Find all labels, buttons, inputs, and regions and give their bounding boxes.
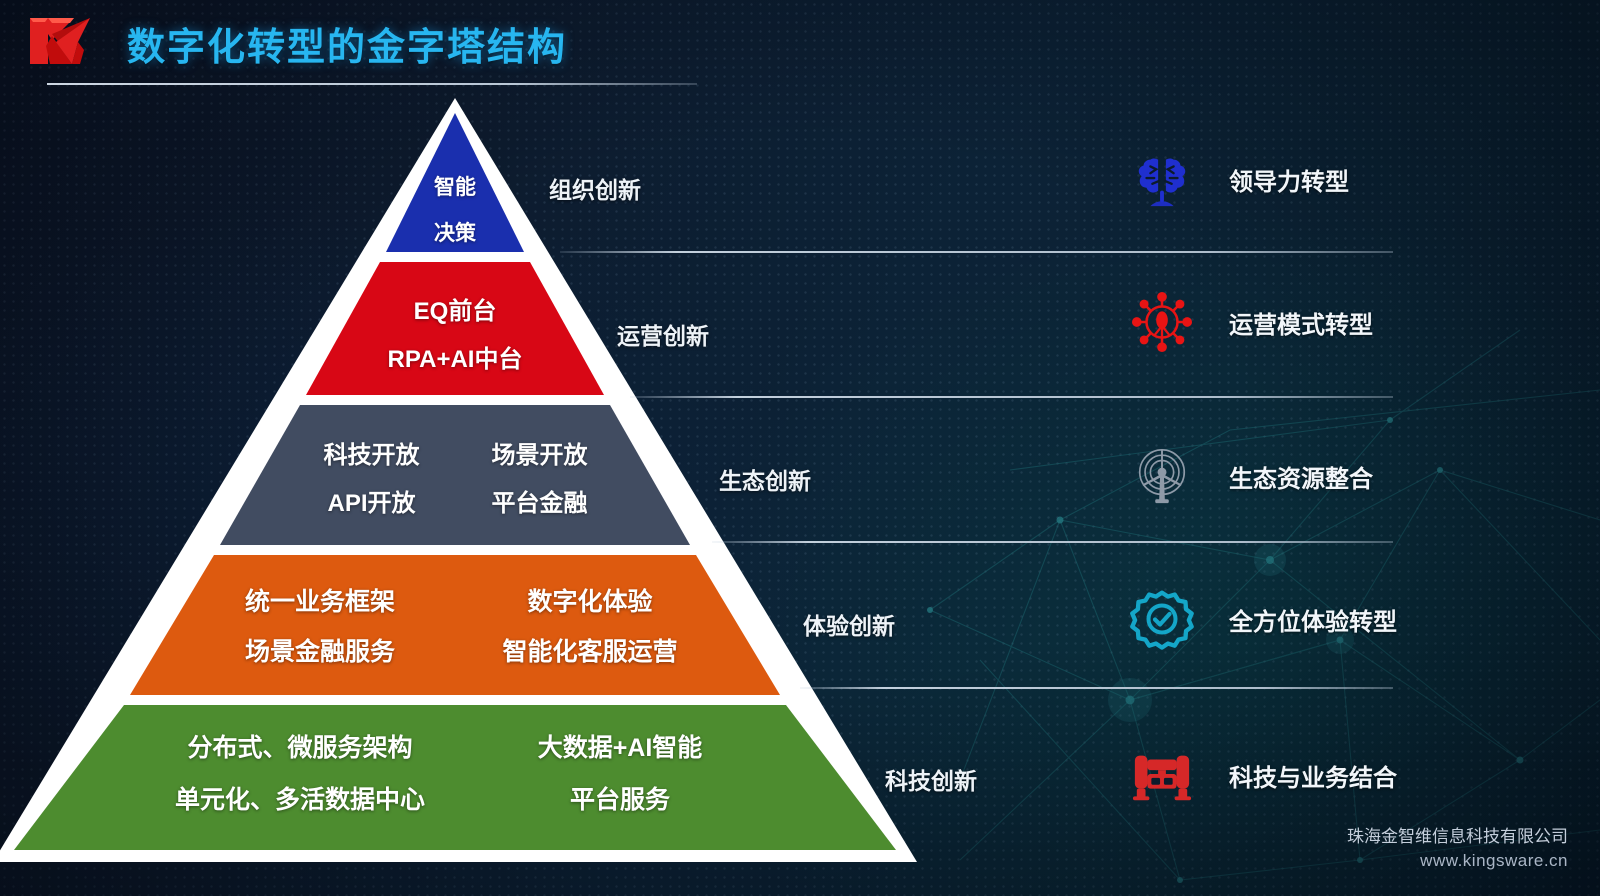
mid-label-technology: 科技创新 [885, 762, 977, 796]
right-row-tech-business[interactable]: 科技与业务结合 [1123, 736, 1397, 814]
right-row-omni-experience-label: 全方位体验转型 [1229, 602, 1397, 637]
right-row-omni-experience[interactable]: 全方位体验转型 [1123, 580, 1397, 658]
right-row-operating-model-label: 运营模式转型 [1229, 305, 1373, 340]
footer-company: 珠海金智维信息科技有限公司 [1347, 825, 1568, 850]
pyramid-level-5-text: 分布式、微服务架构 大数据+AI智能 单元化、多活数据中心 平台服务 [100, 722, 820, 826]
pyramid-level-2-text: EQ前台 RPA+AI中台 [303, 288, 607, 384]
right-row-eco-resource[interactable]: 生态资源整合 [1123, 437, 1373, 515]
footer-website: www.kingsware.cn [1347, 849, 1568, 874]
mid-label-operational: 运营创新 [617, 317, 709, 351]
gear-check-icon [1123, 580, 1201, 658]
right-row-operating-model[interactable]: 运营模式转型 [1123, 283, 1373, 361]
network-node-icon [1123, 283, 1201, 361]
pyramid-level-3-text: 科技开放 场景开放 API开放 平台金融 [228, 432, 683, 528]
footer: 珠海金智维信息科技有限公司 www.kingsware.cn [1347, 825, 1568, 874]
right-row-eco-resource-label: 生态资源整合 [1229, 459, 1373, 494]
mid-label-ecological: 生态创新 [719, 462, 811, 496]
divider-2 [630, 396, 1393, 398]
pyramid-level-4-text: 统一业务框架 数字化体验 场景金融服务 智能化客服运营 [160, 577, 750, 677]
divider-1 [560, 251, 1393, 253]
right-row-leadership-label: 领导力转型 [1229, 162, 1349, 197]
wind-turbine-icon [1123, 437, 1201, 515]
mid-label-experience: 体验创新 [803, 607, 895, 641]
slide-root: 数字化转型的金字塔结构 智能 决策 EQ前台 RPA+AI中台 科技开放 场景开… [0, 0, 1600, 896]
brain-icon [1123, 140, 1201, 218]
divider-3 [712, 541, 1393, 543]
right-row-tech-business-label: 科技与业务结合 [1229, 758, 1397, 793]
robot-icon [1123, 736, 1201, 814]
mid-label-organizational: 组织创新 [549, 171, 641, 205]
divider-4 [800, 687, 1393, 689]
right-row-leadership[interactable]: 领导力转型 [1123, 140, 1349, 218]
pyramid-level-1-text: 智能 决策 [389, 165, 521, 257]
